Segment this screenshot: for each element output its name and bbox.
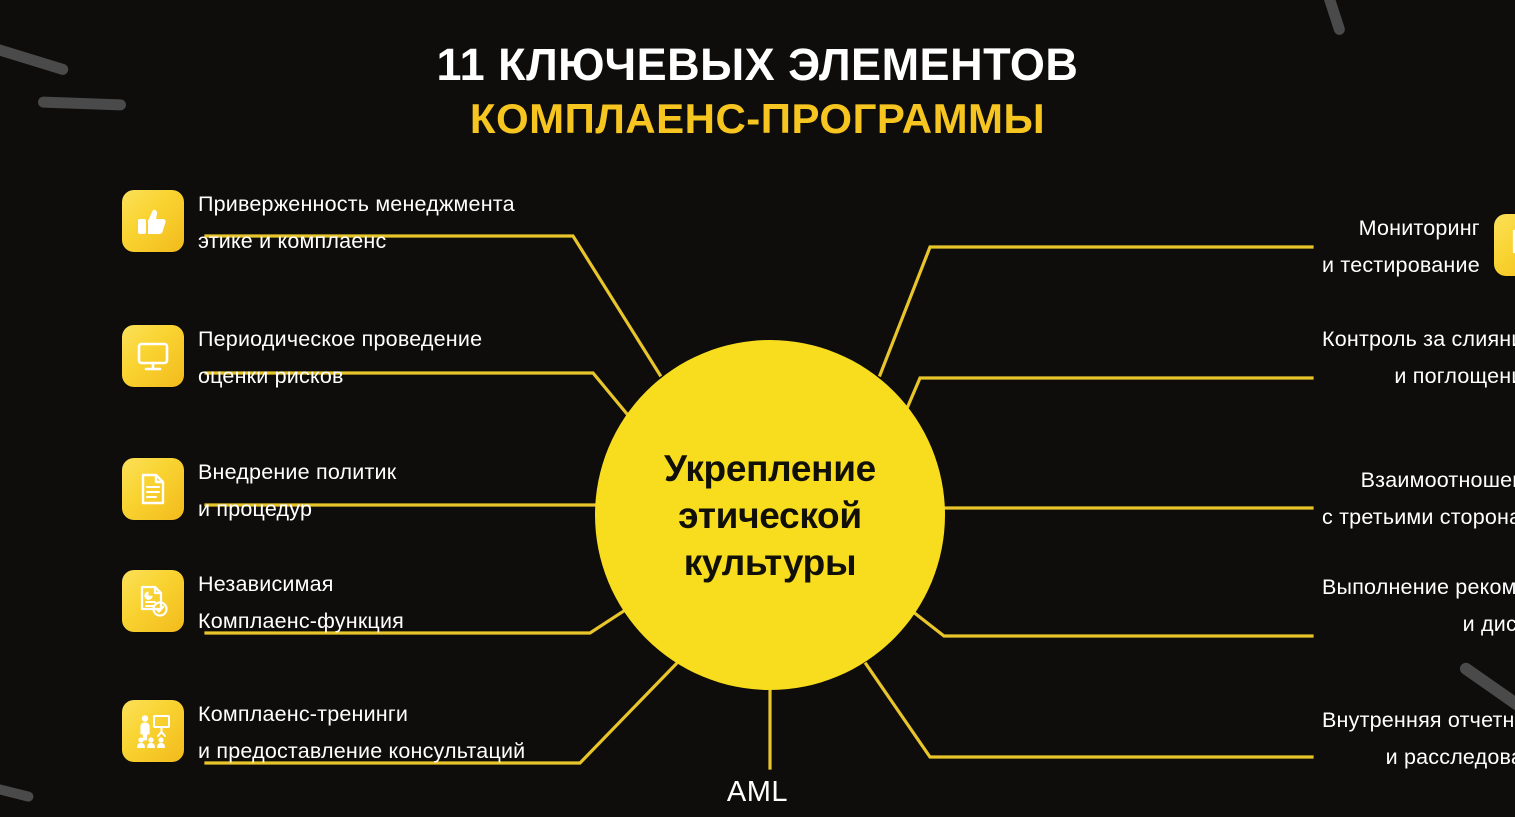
center-circle: Укрепление этической культуры [595,340,945,690]
page-title: 11 КЛЮЧЕВЫХ ЭЛЕМЕНТОВ КОМПЛАЕНС-ПРОГРАММ… [0,38,1515,144]
element-left-2-labels: Периодическое проведение оценки рисков [198,325,482,390]
element-bottom-aml[interactable]: AML [0,776,1515,809]
monitor-icon [122,325,184,387]
element-left-3-labels: Внедрение политик и процедур [198,458,396,523]
element-label-line2: и процедур [198,490,312,523]
element-right-4-labels: Выполнение рекомендаций и дисциплина [1322,573,1515,638]
element-label-line2: и тестирование [1322,246,1480,279]
element-right-1-labels: Мониторинг и тестирование [1322,214,1480,279]
element-left-4[interactable]: Независимая Комплаенс-функция [122,570,404,635]
element-label-line1: Мониторинг [1359,214,1480,246]
training-presentation-icon [122,700,184,762]
element-right-3[interactable]: Взаимоотношения с третьими сторонами [1322,466,1515,531]
element-label-line2: и расследования [1386,738,1515,771]
element-left-1-labels: Приверженность менеджмента этике и компл… [198,190,515,255]
element-label-aml: AML [727,776,788,808]
element-label-line2: Комплаенс-функция [198,602,404,635]
element-right-2[interactable]: Контроль за слияниями и поглощениями [1322,325,1515,390]
element-label-line2: этике и комплаенс [198,222,386,255]
element-label-line1: Контроль за слияниями [1322,325,1515,357]
element-label-line2: оценки рисков [198,357,344,390]
connector-right-4 [903,604,1312,636]
element-right-5-labels: Внутренняя отчетность и расследования [1322,706,1515,771]
center-circle-label: Укрепление этической культуры [595,445,945,586]
element-left-3[interactable]: Внедрение политик и процедур [122,458,396,523]
element-left-2[interactable]: Периодическое проведение оценки рисков [122,325,482,390]
title-line-primary: 11 КЛЮЧЕВЫХ ЭЛЕМЕНТОВ [0,38,1515,92]
element-left-5[interactable]: Комплаенс-тренинги и предоставление конс… [122,700,525,765]
element-label-line1: Периодическое проведение [198,325,482,357]
element-left-1[interactable]: Приверженность менеджмента этике и компл… [122,190,515,255]
element-left-4-labels: Независимая Комплаенс-функция [198,570,404,635]
element-label-line1: Внедрение политик [198,458,396,490]
connector-right-1 [880,247,1312,375]
element-label-line2: и поглощениями [1394,357,1515,390]
element-right-1[interactable]: Мониторинг и тестирование [1322,214,1515,279]
element-label-line2: с третьими сторонами [1322,498,1515,531]
element-label-line2: и предоставление консультаций [198,732,525,765]
element-label-line1: Выполнение рекомендаций [1322,573,1515,605]
element-left-5-labels: Комплаенс-тренинги и предоставление конс… [198,700,525,765]
element-right-4[interactable]: Выполнение рекомендаций и дисциплина [1322,573,1515,638]
clipboard-check-icon [1494,214,1515,276]
element-label-line1: Взаимоотношения [1361,466,1515,498]
document-icon [122,458,184,520]
element-label-line1: Независимая [198,570,334,602]
connector-right-5 [866,664,1312,757]
element-label-line1: Внутренняя отчетность [1322,706,1515,738]
element-label-line1: Комплаенс-тренинги [198,700,408,732]
thumbs-up-icon [122,190,184,252]
element-right-5[interactable]: Внутренняя отчетность и расследования [1322,706,1515,771]
element-label-line2: и дисциплина [1463,605,1515,638]
connector-right-2 [902,378,1312,420]
title-line-secondary: КОМПЛАЕНС-ПРОГРАММЫ [0,94,1515,144]
element-right-3-labels: Взаимоотношения с третьими сторонами [1322,466,1515,531]
element-label-line1: Приверженность менеджмента [198,190,515,222]
element-right-2-labels: Контроль за слияниями и поглощениями [1322,325,1515,390]
report-check-icon [122,570,184,632]
